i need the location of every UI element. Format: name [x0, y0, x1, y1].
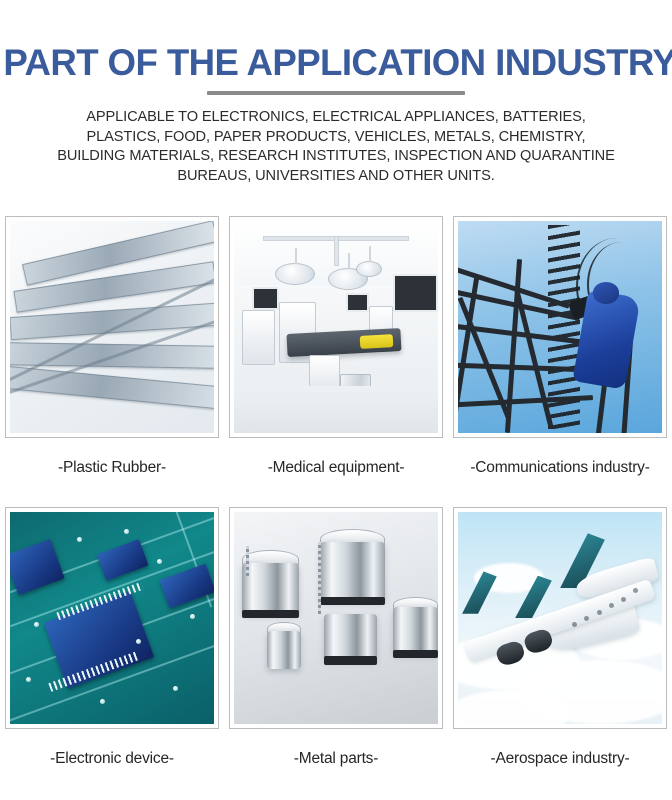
industry-card[interactable]: -Medical equipment- [224, 216, 448, 507]
card-caption: -Metal parts- [294, 750, 378, 768]
industry-card-grid: -Plastic Rubber- [0, 216, 672, 798]
metal-parts-photo [234, 512, 438, 724]
medical-equipment-photo [234, 221, 438, 433]
card-caption: -Electronic device- [50, 750, 174, 768]
image-frame [453, 507, 667, 729]
application-industry-page: PART OF THE APPLICATION INDUSTRY APPLICA… [0, 0, 672, 800]
plastic-rubber-photo [10, 221, 214, 433]
industry-card[interactable]: -Communications industry- [448, 216, 672, 507]
title-divider [207, 91, 465, 95]
image-frame [229, 507, 443, 729]
card-caption: -Communications industry- [470, 459, 649, 477]
communications-industry-photo [458, 221, 662, 433]
electronic-device-photo [10, 512, 214, 724]
page-title: PART OF THE APPLICATION INDUSTRY [3, 44, 668, 82]
industry-card[interactable]: -Electronic device- [0, 507, 224, 798]
image-frame [5, 216, 219, 438]
industry-card[interactable]: -Plastic Rubber- [0, 216, 224, 507]
image-frame [5, 507, 219, 729]
image-frame [229, 216, 443, 438]
industry-card[interactable]: -Aerospace industry- [448, 507, 672, 798]
image-frame [453, 216, 667, 438]
page-header: PART OF THE APPLICATION INDUSTRY APPLICA… [0, 0, 672, 186]
industry-card[interactable]: -Metal parts- [224, 507, 448, 798]
page-subtitle: APPLICABLE TO ELECTRONICS, ELECTRICAL AP… [56, 108, 616, 186]
card-caption: -Aerospace industry- [490, 750, 629, 768]
aerospace-industry-photo [458, 512, 662, 724]
card-caption: -Medical equipment- [268, 459, 405, 477]
card-caption: -Plastic Rubber- [58, 459, 166, 477]
